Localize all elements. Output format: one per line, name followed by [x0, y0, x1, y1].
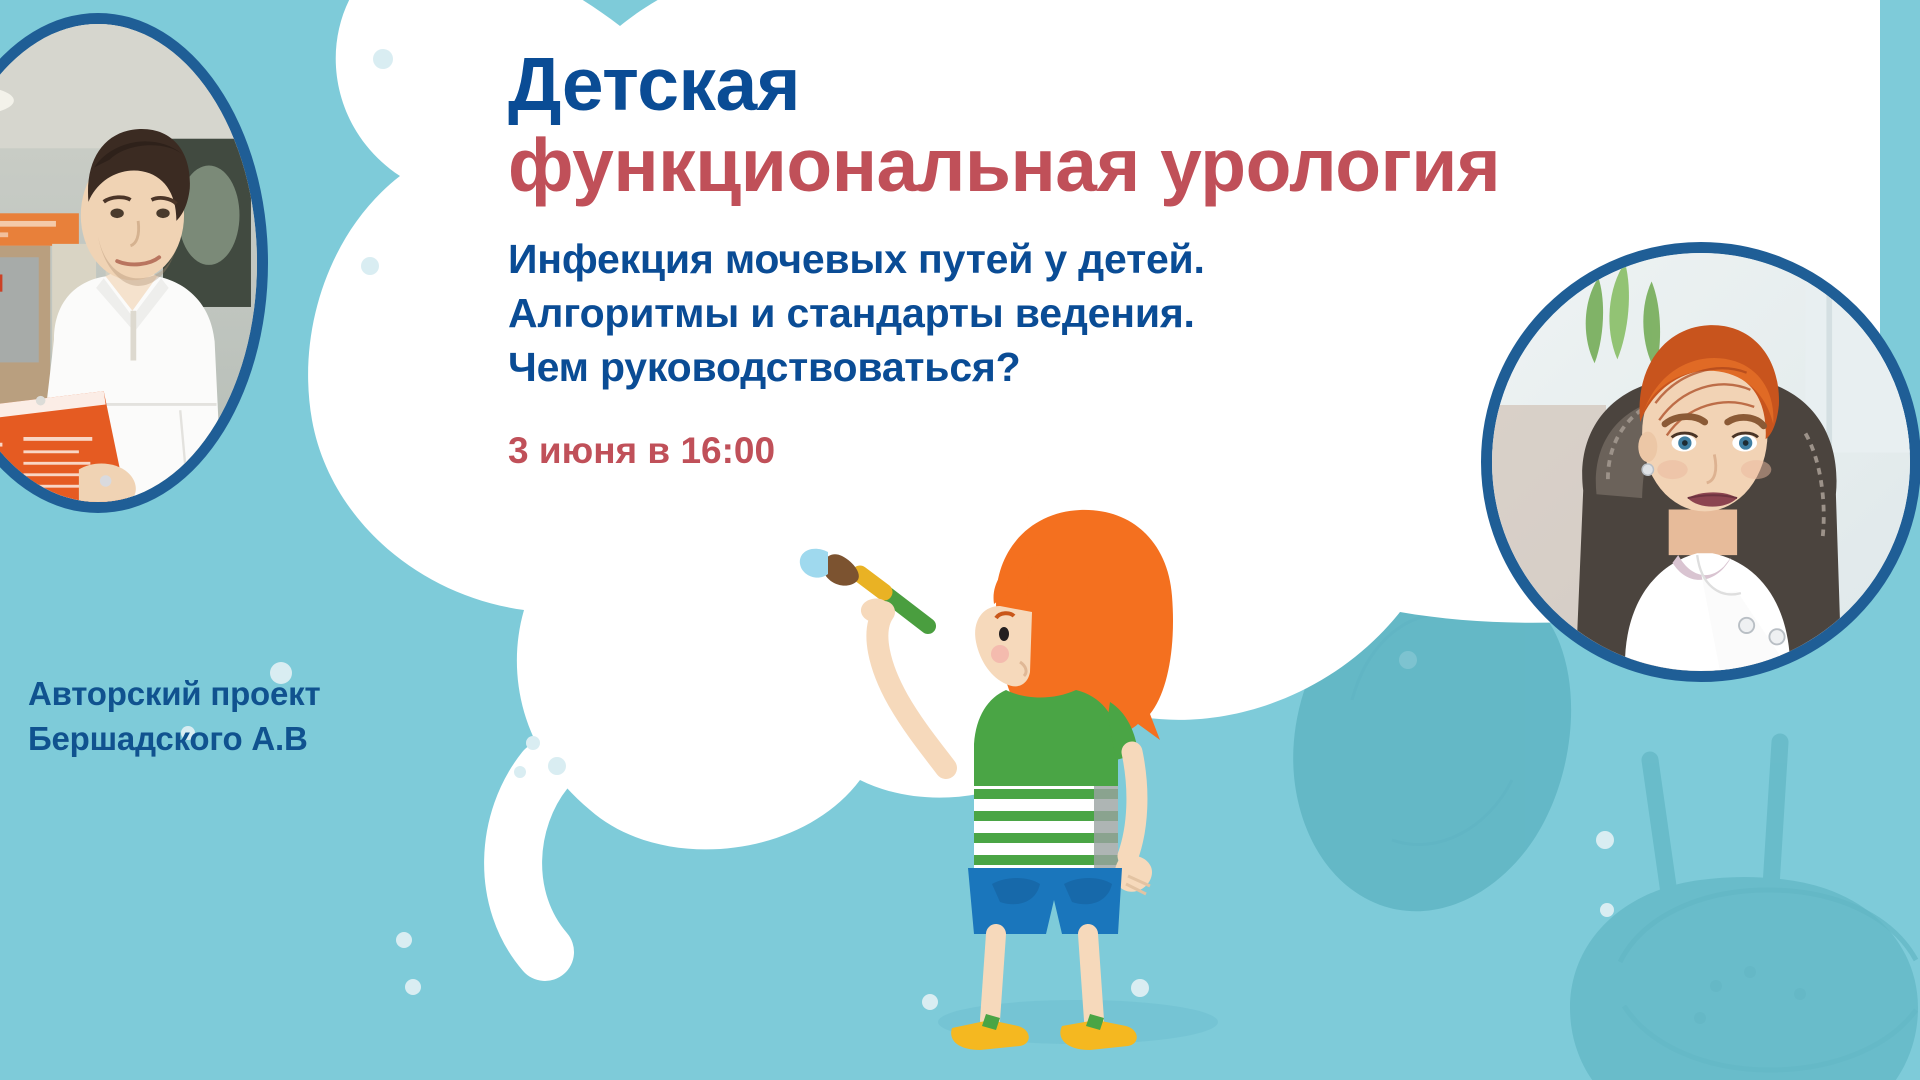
author-credit-line-2: Бершадского А.В: [28, 717, 320, 762]
subtitle-line-2: Алгоритмы и стандарты ведения.: [508, 286, 1668, 340]
event-date: 3 июня в 16:00: [508, 430, 1668, 472]
title-line-1: Детская: [508, 46, 1668, 123]
poster-canvas: Детская функциональная урология Инфекция…: [0, 0, 1920, 1080]
author-credit: Авторский проект Бершадского А.В: [28, 672, 320, 762]
title-line-2: функциональная урология: [508, 125, 1668, 206]
headline-block: Детская функциональная урология Инфекция…: [508, 46, 1668, 472]
subtitle-line-1: Инфекция мочевых путей у детей.: [508, 232, 1668, 286]
subtitle-block: Инфекция мочевых путей у детей. Алгоритм…: [508, 232, 1668, 394]
subtitle-line-3: Чем руководствоваться?: [508, 340, 1668, 394]
author-credit-line-1: Авторский проект: [28, 672, 320, 717]
boy-eye: [999, 627, 1009, 641]
